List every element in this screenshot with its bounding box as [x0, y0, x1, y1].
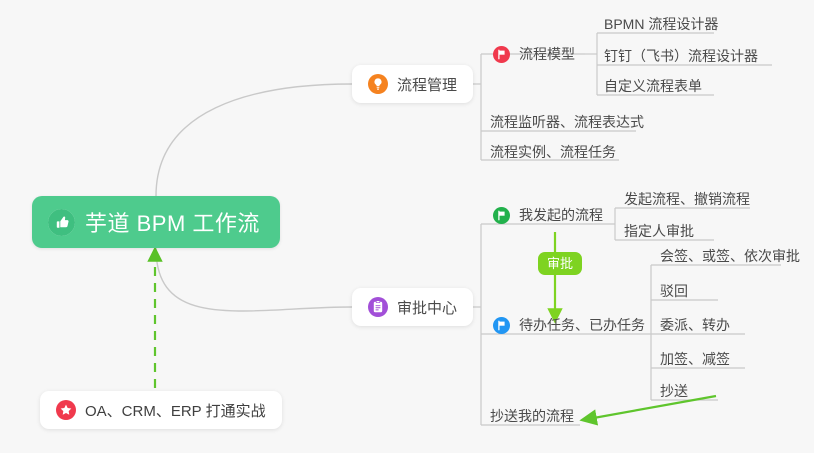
node-cc-to-me-process[interactable]: 抄送我的流程: [490, 403, 574, 429]
node-label: 钉钉（飞书）流程设计器: [604, 46, 758, 66]
node-carbon-copy[interactable]: 抄送: [660, 378, 688, 404]
node-process-instance-task[interactable]: 流程实例、流程任务: [490, 139, 616, 165]
node-add-remove-sign[interactable]: 加签、减签: [660, 346, 730, 372]
node-label: BPMN 流程设计器: [604, 14, 718, 34]
node-start-cancel-process[interactable]: 发起流程、撤销流程: [624, 186, 750, 212]
star-icon: [56, 400, 76, 420]
clipboard-icon: [368, 297, 388, 317]
edge-root-to-approval-center: [156, 248, 352, 311]
approval-badge: 审批: [538, 252, 582, 275]
node-delegate-transfer[interactable]: 委派、转办: [660, 312, 730, 338]
edge-root-to-process-management: [156, 84, 352, 196]
root-node[interactable]: 芋道 BPM 工作流: [32, 196, 280, 248]
node-process-management[interactable]: 流程管理: [352, 65, 473, 103]
node-label: 抄送: [660, 381, 688, 401]
node-label: 流程模型: [519, 44, 575, 64]
node-label: 加签、减签: [660, 349, 730, 369]
node-approval-center[interactable]: 审批中心: [352, 288, 473, 326]
node-my-initiated-process[interactable]: 我发起的流程: [493, 202, 603, 228]
node-countersign-orsign-sequential[interactable]: 会签、或签、依次审批: [660, 243, 800, 269]
node-oa-crm-erp[interactable]: OA、CRM、ERP 打通实战: [40, 391, 282, 429]
node-label: 流程监听器、流程表达式: [490, 112, 644, 132]
node-designated-approver[interactable]: 指定人审批: [624, 218, 694, 244]
node-label: 自定义流程表单: [604, 76, 702, 96]
node-reject[interactable]: 驳回: [660, 278, 688, 304]
node-label: 我发起的流程: [519, 205, 603, 225]
flag-icon: [493, 317, 510, 334]
node-label: 指定人审批: [624, 221, 694, 241]
node-label: 流程实例、流程任务: [490, 142, 616, 162]
lightbulb-icon: [368, 74, 388, 94]
node-label: 委派、转办: [660, 315, 730, 335]
node-todo-done-tasks[interactable]: 待办任务、已办任务: [493, 312, 645, 338]
node-bpmn-designer[interactable]: BPMN 流程设计器: [604, 11, 718, 37]
flag-icon: [493, 207, 510, 224]
thumbs-up-icon: [48, 209, 75, 236]
mindmap-canvas: 芋道 BPM 工作流 流程管理 审批中心: [0, 0, 814, 453]
node-label: 流程管理: [397, 74, 457, 95]
node-label: 抄送我的流程: [490, 406, 574, 426]
node-label: 审批中心: [397, 297, 457, 318]
node-dingtalk-feishu-designer[interactable]: 钉钉（飞书）流程设计器: [604, 43, 758, 69]
node-custom-process-form[interactable]: 自定义流程表单: [604, 73, 702, 99]
node-label: 发起流程、撤销流程: [624, 189, 750, 209]
node-process-model[interactable]: 流程模型: [493, 41, 575, 67]
root-label: 芋道 BPM 工作流: [85, 206, 260, 238]
node-label: 会签、或签、依次审批: [660, 246, 800, 266]
node-label: OA、CRM、ERP 打通实战: [85, 400, 266, 421]
node-process-listener-expression[interactable]: 流程监听器、流程表达式: [490, 109, 644, 135]
node-label: 驳回: [660, 281, 688, 301]
node-label: 待办任务、已办任务: [519, 315, 645, 335]
flag-icon: [493, 46, 510, 63]
